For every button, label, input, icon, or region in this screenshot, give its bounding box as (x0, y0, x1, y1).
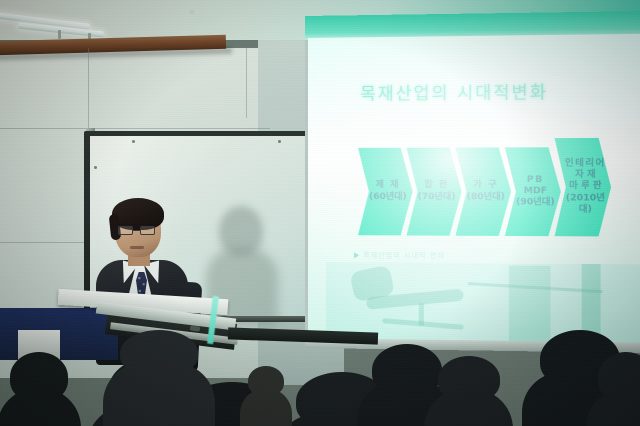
slide-bullet-line: 목재산업의 시대적 변화 (354, 250, 445, 261)
whiteboard-screw (278, 140, 281, 143)
presenter-mouth (130, 246, 144, 249)
slide-photo-shape (509, 265, 550, 341)
glasses-lens (140, 226, 155, 235)
chevron-label: 가 구 (473, 180, 498, 191)
glasses-icon (118, 226, 158, 235)
glasses-lens (118, 226, 133, 235)
whiteboard-screw (94, 166, 97, 169)
chevron-sublabel: MDF (524, 186, 547, 197)
triangle-bullet-icon (354, 252, 359, 258)
glasses-bridge (133, 230, 140, 231)
projection-screen-area: 목재산업의 시대적변화 제 재 (60년대) 합 판 (70년대) 가 구 (8… (305, 11, 640, 351)
podium-knob (190, 325, 201, 331)
projection-screen: 목재산업의 시대적변화 제 재 (60년대) 합 판 (70년대) 가 구 (8… (308, 34, 640, 345)
chevron-label: PB (527, 174, 544, 185)
chevron-era: (2010년대) (563, 193, 608, 216)
audience-shoulders (0, 388, 81, 426)
slide-bullet-text: 목재산업의 시대적 변화 (363, 250, 445, 261)
audience-shoulders (103, 363, 215, 426)
chevron-sublabel-2: 마 루 판 (569, 181, 602, 193)
chevron-era: (70년대) (418, 192, 456, 203)
whiteboard-screw (132, 140, 135, 143)
chevron-item: 합 판 (70년대) (407, 148, 462, 236)
chevron-era: (60년대) (369, 192, 407, 203)
chevron-label: 제 재 (376, 180, 400, 191)
wall-seam (0, 128, 270, 129)
slide-title: 목재산업의 시대적변화 (360, 78, 548, 105)
chevron-label: 합 판 (424, 180, 449, 191)
wall-seam (246, 48, 247, 118)
chevron-item: 제 재 (60년대) (358, 148, 413, 236)
chevron-era: (80년대) (467, 192, 505, 203)
chevron-item: 인테리어 자 재 마 루 판 (2010년대) (555, 138, 611, 237)
chevron-label: 인테리어 (565, 158, 606, 170)
chevron-sublabel: 자 재 (575, 170, 596, 182)
chevron-era: (90년대) (516, 197, 555, 209)
chevron-item: 가 구 (80년대) (455, 147, 511, 236)
audience-shoulders (240, 388, 292, 426)
slide-chevron-row: 제 재 (60년대) 합 판 (70년대) 가 구 (80년대) PB MDF … (358, 147, 605, 236)
lecture-photo: 목재산업의 시대적변화 제 재 (60년대) 합 판 (70년대) 가 구 (8… (0, 0, 640, 426)
chevron-item: PB MDF (90년대) (505, 147, 561, 236)
light-holder (58, 30, 61, 39)
